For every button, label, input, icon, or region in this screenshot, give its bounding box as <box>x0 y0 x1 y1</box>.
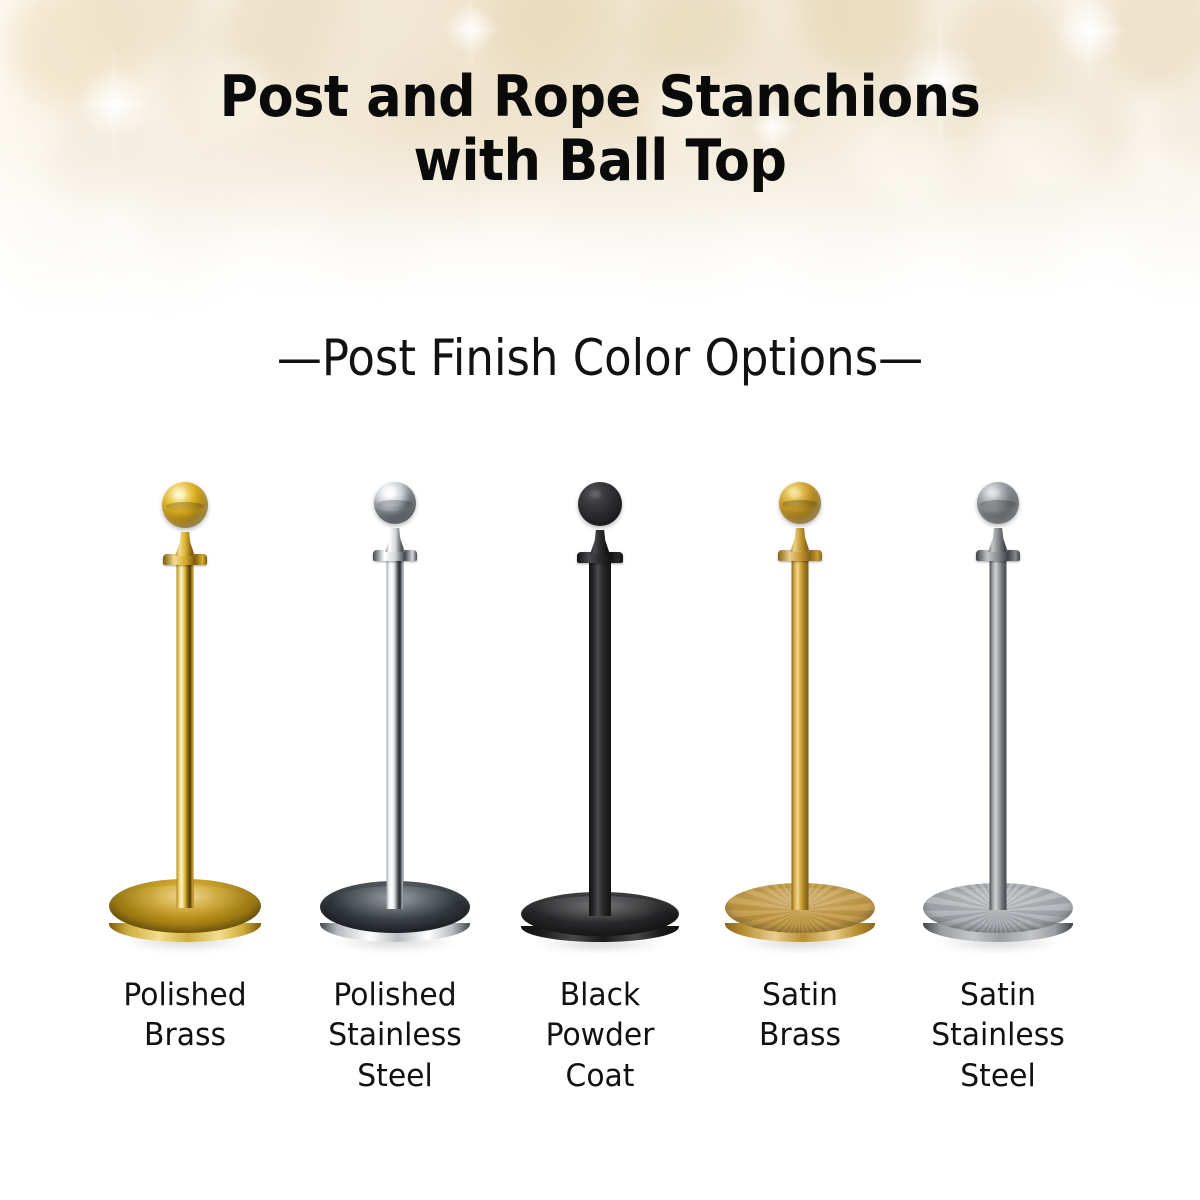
bokeh-circle <box>105 215 230 330</box>
stanchion-satin-brass <box>690 460 910 950</box>
ball-specular-highlight <box>788 488 802 499</box>
post-shaft <box>387 558 404 909</box>
post-neck <box>787 528 813 552</box>
ball-specular-highlight <box>172 489 188 501</box>
ball-top-finial <box>162 482 208 528</box>
sparkle-icon <box>436 0 506 64</box>
finish-option-black-powder-coat[interactable] <box>490 430 710 950</box>
ball-top-finial <box>374 482 416 524</box>
stanchion-polished-brass <box>75 460 295 950</box>
finish-label-polished-stainless-steel: Polished Stainless Steel <box>289 975 500 1096</box>
subtitle-post-finish-color-options: —Post Finish Color Options— <box>60 333 1140 383</box>
stanchion-polished-stainless-steel <box>285 460 505 950</box>
post-neck <box>985 528 1011 552</box>
ball-reflection-band <box>166 502 205 511</box>
finish-option-satin-brass[interactable] <box>690 430 910 950</box>
finish-label-satin-brass: Satin Brass <box>694 975 905 1056</box>
ball-rim-light <box>977 482 1019 524</box>
ball-rim-light <box>162 482 208 528</box>
infographic-canvas: Post and Rope Stanchions with Ball Top —… <box>0 0 1200 1200</box>
page-title: Post and Rope Stanchions with Ball Top <box>48 66 1152 194</box>
post-neck <box>382 528 408 552</box>
ball-rim-light <box>374 482 416 524</box>
stanchion-black-powder-coat <box>490 460 710 950</box>
ball-specular-highlight <box>383 488 397 499</box>
ball-rim-light <box>779 482 821 524</box>
finish-option-polished-brass[interactable] <box>75 430 295 950</box>
finish-label-satin-stainless-steel: Satin Stainless Steel <box>892 975 1103 1096</box>
ball-top-finial <box>578 482 622 526</box>
ball-reflection-band <box>377 500 412 508</box>
finish-option-polished-stainless-steel[interactable] <box>285 430 505 950</box>
finish-options-row <box>0 430 1200 950</box>
ball-reflection-band <box>980 500 1015 508</box>
post-neck <box>587 530 613 554</box>
post-shaft <box>177 562 194 908</box>
ball-specular-highlight <box>986 488 1000 499</box>
post-shaft <box>589 560 611 916</box>
finish-label-black-powder-coat: Black Powder Coat <box>494 975 705 1096</box>
post-shaft <box>990 558 1007 910</box>
ball-specular-highlight <box>588 489 603 500</box>
ball-top-finial <box>977 482 1019 524</box>
post-shaft <box>792 558 809 910</box>
bokeh-circle <box>0 195 140 330</box>
finish-label-polished-brass: Polished Brass <box>79 975 290 1056</box>
ball-reflection-band <box>782 500 817 508</box>
finish-labels-row: Polished BrassPolished Stainless SteelBl… <box>0 975 1200 1115</box>
ball-top-finial <box>779 482 821 524</box>
post-neck <box>172 532 198 556</box>
stanchion-satin-stainless-steel <box>888 460 1108 950</box>
finish-option-satin-stainless-steel[interactable] <box>888 430 1108 950</box>
